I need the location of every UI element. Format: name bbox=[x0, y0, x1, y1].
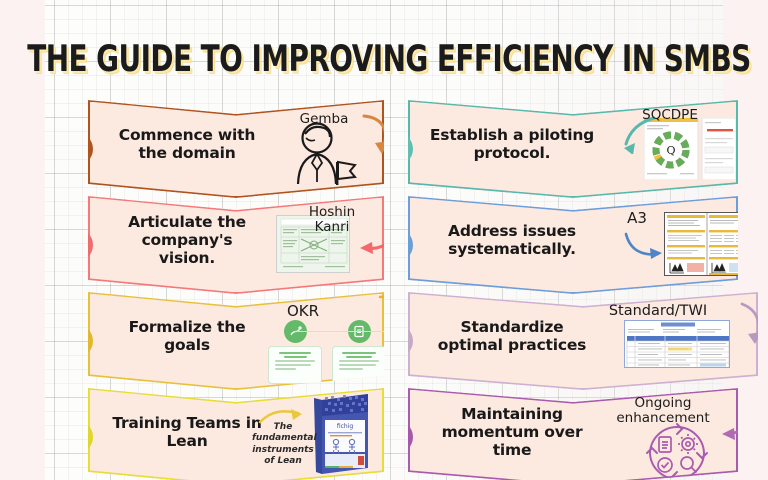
step-card-6-title: Establish a piloting protocol. bbox=[428, 126, 596, 163]
svg-text:Q: Q bbox=[666, 144, 675, 157]
okr-node-2-text bbox=[332, 346, 386, 384]
a3-report-thumbnail bbox=[664, 212, 748, 276]
step-card-7[interactable]: Address issues systematically. bbox=[408, 196, 738, 294]
standard-twi-arrow-icon bbox=[738, 302, 768, 350]
step-7-annotation: A3 bbox=[620, 210, 654, 227]
continuous-improvement-cycle-icon bbox=[644, 422, 710, 480]
step-card-2[interactable]: Articulate the company's vision. bbox=[88, 196, 384, 294]
step-card-4[interactable]: Training Teams in Lean bbox=[88, 388, 384, 480]
page-title: THE GUIDE TO IMPROVING EFFICIENCY IN SMB… bbox=[27, 38, 750, 81]
okr-node-1-text bbox=[268, 346, 322, 384]
page-title-container: THE GUIDE TO IMPROVING EFFICIENCY IN SMB… bbox=[0, 42, 768, 77]
step-card-1-title: Commence with the domain bbox=[112, 126, 262, 163]
step-2-annotation: Hoshin Kanri bbox=[294, 205, 370, 235]
step-card-2-title: Articulate the company's vision. bbox=[112, 213, 262, 268]
step-card-9[interactable]: Maintaining momentum over time bbox=[408, 388, 738, 480]
step-4-annotation: The fundamental instruments of Lean bbox=[252, 422, 314, 467]
step-card-7-visual: A3 bbox=[596, 196, 728, 284]
step-8-annotation: Standard/TWI bbox=[588, 304, 728, 320]
left-step-column: Commence with the domain bbox=[88, 100, 384, 480]
step-card-1[interactable]: Commence with the domain bbox=[88, 100, 384, 198]
a3-arrow-icon bbox=[624, 230, 668, 262]
step-card-3-title: Formalize the goals bbox=[112, 318, 262, 355]
infographic-page: THE GUIDE TO IMPROVING EFFICIENCY IN SMB… bbox=[0, 0, 768, 480]
step-card-3[interactable]: Formalize the goals bbox=[88, 292, 384, 390]
step-card-4-title: Training Teams in Lean bbox=[112, 414, 262, 451]
step-9-annotation: Ongoing enhancement bbox=[598, 396, 728, 426]
step-card-6[interactable]: Establish a piloting protocol. bbox=[408, 100, 738, 198]
step-card-9-title: Maintaining momentum over time bbox=[428, 405, 596, 460]
step-3-annotation: OKR bbox=[274, 303, 332, 320]
gemba-person-icon bbox=[290, 120, 362, 186]
step-6-annotation: SQCDPE bbox=[620, 108, 720, 123]
okr-node-1 bbox=[268, 320, 322, 384]
step-card-7-title: Address issues systematically. bbox=[428, 222, 596, 259]
right-step-column: Establish a piloting protocol. bbox=[408, 100, 738, 480]
step-1-annotation: Gemba bbox=[284, 112, 364, 127]
okr-node-2 bbox=[332, 320, 386, 384]
step-card-8[interactable]: Standardize optimal practices bbox=[408, 292, 758, 390]
svg-text:fichig: fichig bbox=[337, 423, 354, 430]
standard-work-table-thumbnail bbox=[624, 320, 730, 368]
step-card-8-title: Standardize optimal practices bbox=[428, 318, 596, 355]
